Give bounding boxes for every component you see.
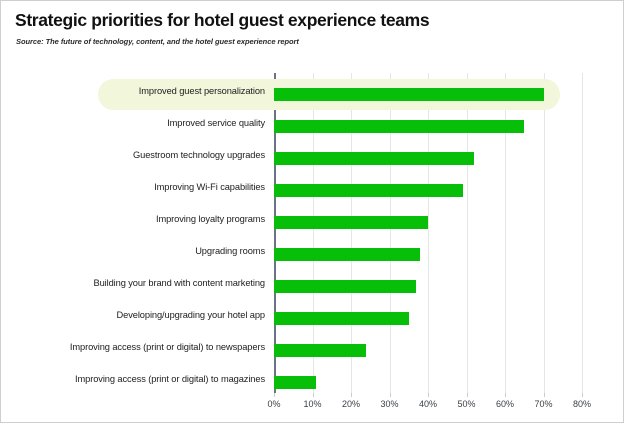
x-axis-tick-label: 20% (342, 399, 360, 409)
bar-row: Building your brand with content marketi… (274, 271, 582, 303)
category-label: Developing/upgrading your hotel app (117, 310, 265, 320)
x-axis: 0%10%20%30%40%50%60%70%80% (274, 393, 582, 413)
x-axis-tick (274, 393, 275, 397)
bar (274, 152, 474, 165)
x-axis-tick-label: 10% (303, 399, 321, 409)
category-label: Upgrading rooms (195, 246, 265, 256)
category-label: Improved service quality (167, 118, 265, 128)
bar (274, 248, 420, 261)
chart-figure: Strategic priorities for hotel guest exp… (0, 0, 624, 423)
bar-row: Improved service quality (274, 111, 582, 143)
x-axis-tick-label: 80% (573, 399, 591, 409)
category-label: Improving Wi-Fi capabilities (154, 182, 265, 192)
x-axis-tick-label: 50% (457, 399, 475, 409)
bar-row: Improving Wi-Fi capabilities (274, 175, 582, 207)
bar (274, 216, 428, 229)
bar-row: Improved guest personalization (274, 79, 582, 111)
bar-row: Improving loyalty programs (274, 207, 582, 239)
x-axis-tick-label: 0% (267, 399, 280, 409)
x-axis-tick (582, 393, 583, 397)
bar (274, 312, 409, 325)
plot-area: Improved guest personalizationImproved s… (274, 73, 582, 393)
bar (274, 88, 544, 101)
gridline (582, 73, 583, 393)
bar-row: Guestroom technology upgrades (274, 143, 582, 175)
x-axis-tick-label: 70% (534, 399, 552, 409)
category-label: Improving access (print or digital) to n… (70, 342, 265, 352)
bar (274, 120, 524, 133)
category-label: Improving access (print or digital) to m… (75, 374, 265, 384)
category-label: Improving loyalty programs (156, 214, 265, 224)
x-axis-tick (467, 393, 468, 397)
x-axis-tick-label: 40% (419, 399, 437, 409)
bar (274, 344, 366, 357)
x-axis-tick (505, 393, 506, 397)
x-axis-tick (544, 393, 545, 397)
category-label: Guestroom technology upgrades (133, 150, 265, 160)
x-axis-tick (351, 393, 352, 397)
category-label: Building your brand with content marketi… (93, 278, 265, 288)
x-axis-tick-label: 30% (380, 399, 398, 409)
bar-row: Developing/upgrading your hotel app (274, 303, 582, 335)
page-title: Strategic priorities for hotel guest exp… (15, 10, 429, 31)
category-label: Improved guest personalization (139, 86, 265, 96)
bar-row: Improving access (print or digital) to n… (274, 335, 582, 367)
bar-row: Upgrading rooms (274, 239, 582, 271)
chart-source-note: Source: The future of technology, conten… (16, 37, 299, 46)
x-axis-tick-label: 60% (496, 399, 514, 409)
x-axis-tick (428, 393, 429, 397)
bar (274, 184, 463, 197)
x-axis-tick (390, 393, 391, 397)
x-axis-tick (313, 393, 314, 397)
bar (274, 280, 416, 293)
bar (274, 376, 316, 389)
